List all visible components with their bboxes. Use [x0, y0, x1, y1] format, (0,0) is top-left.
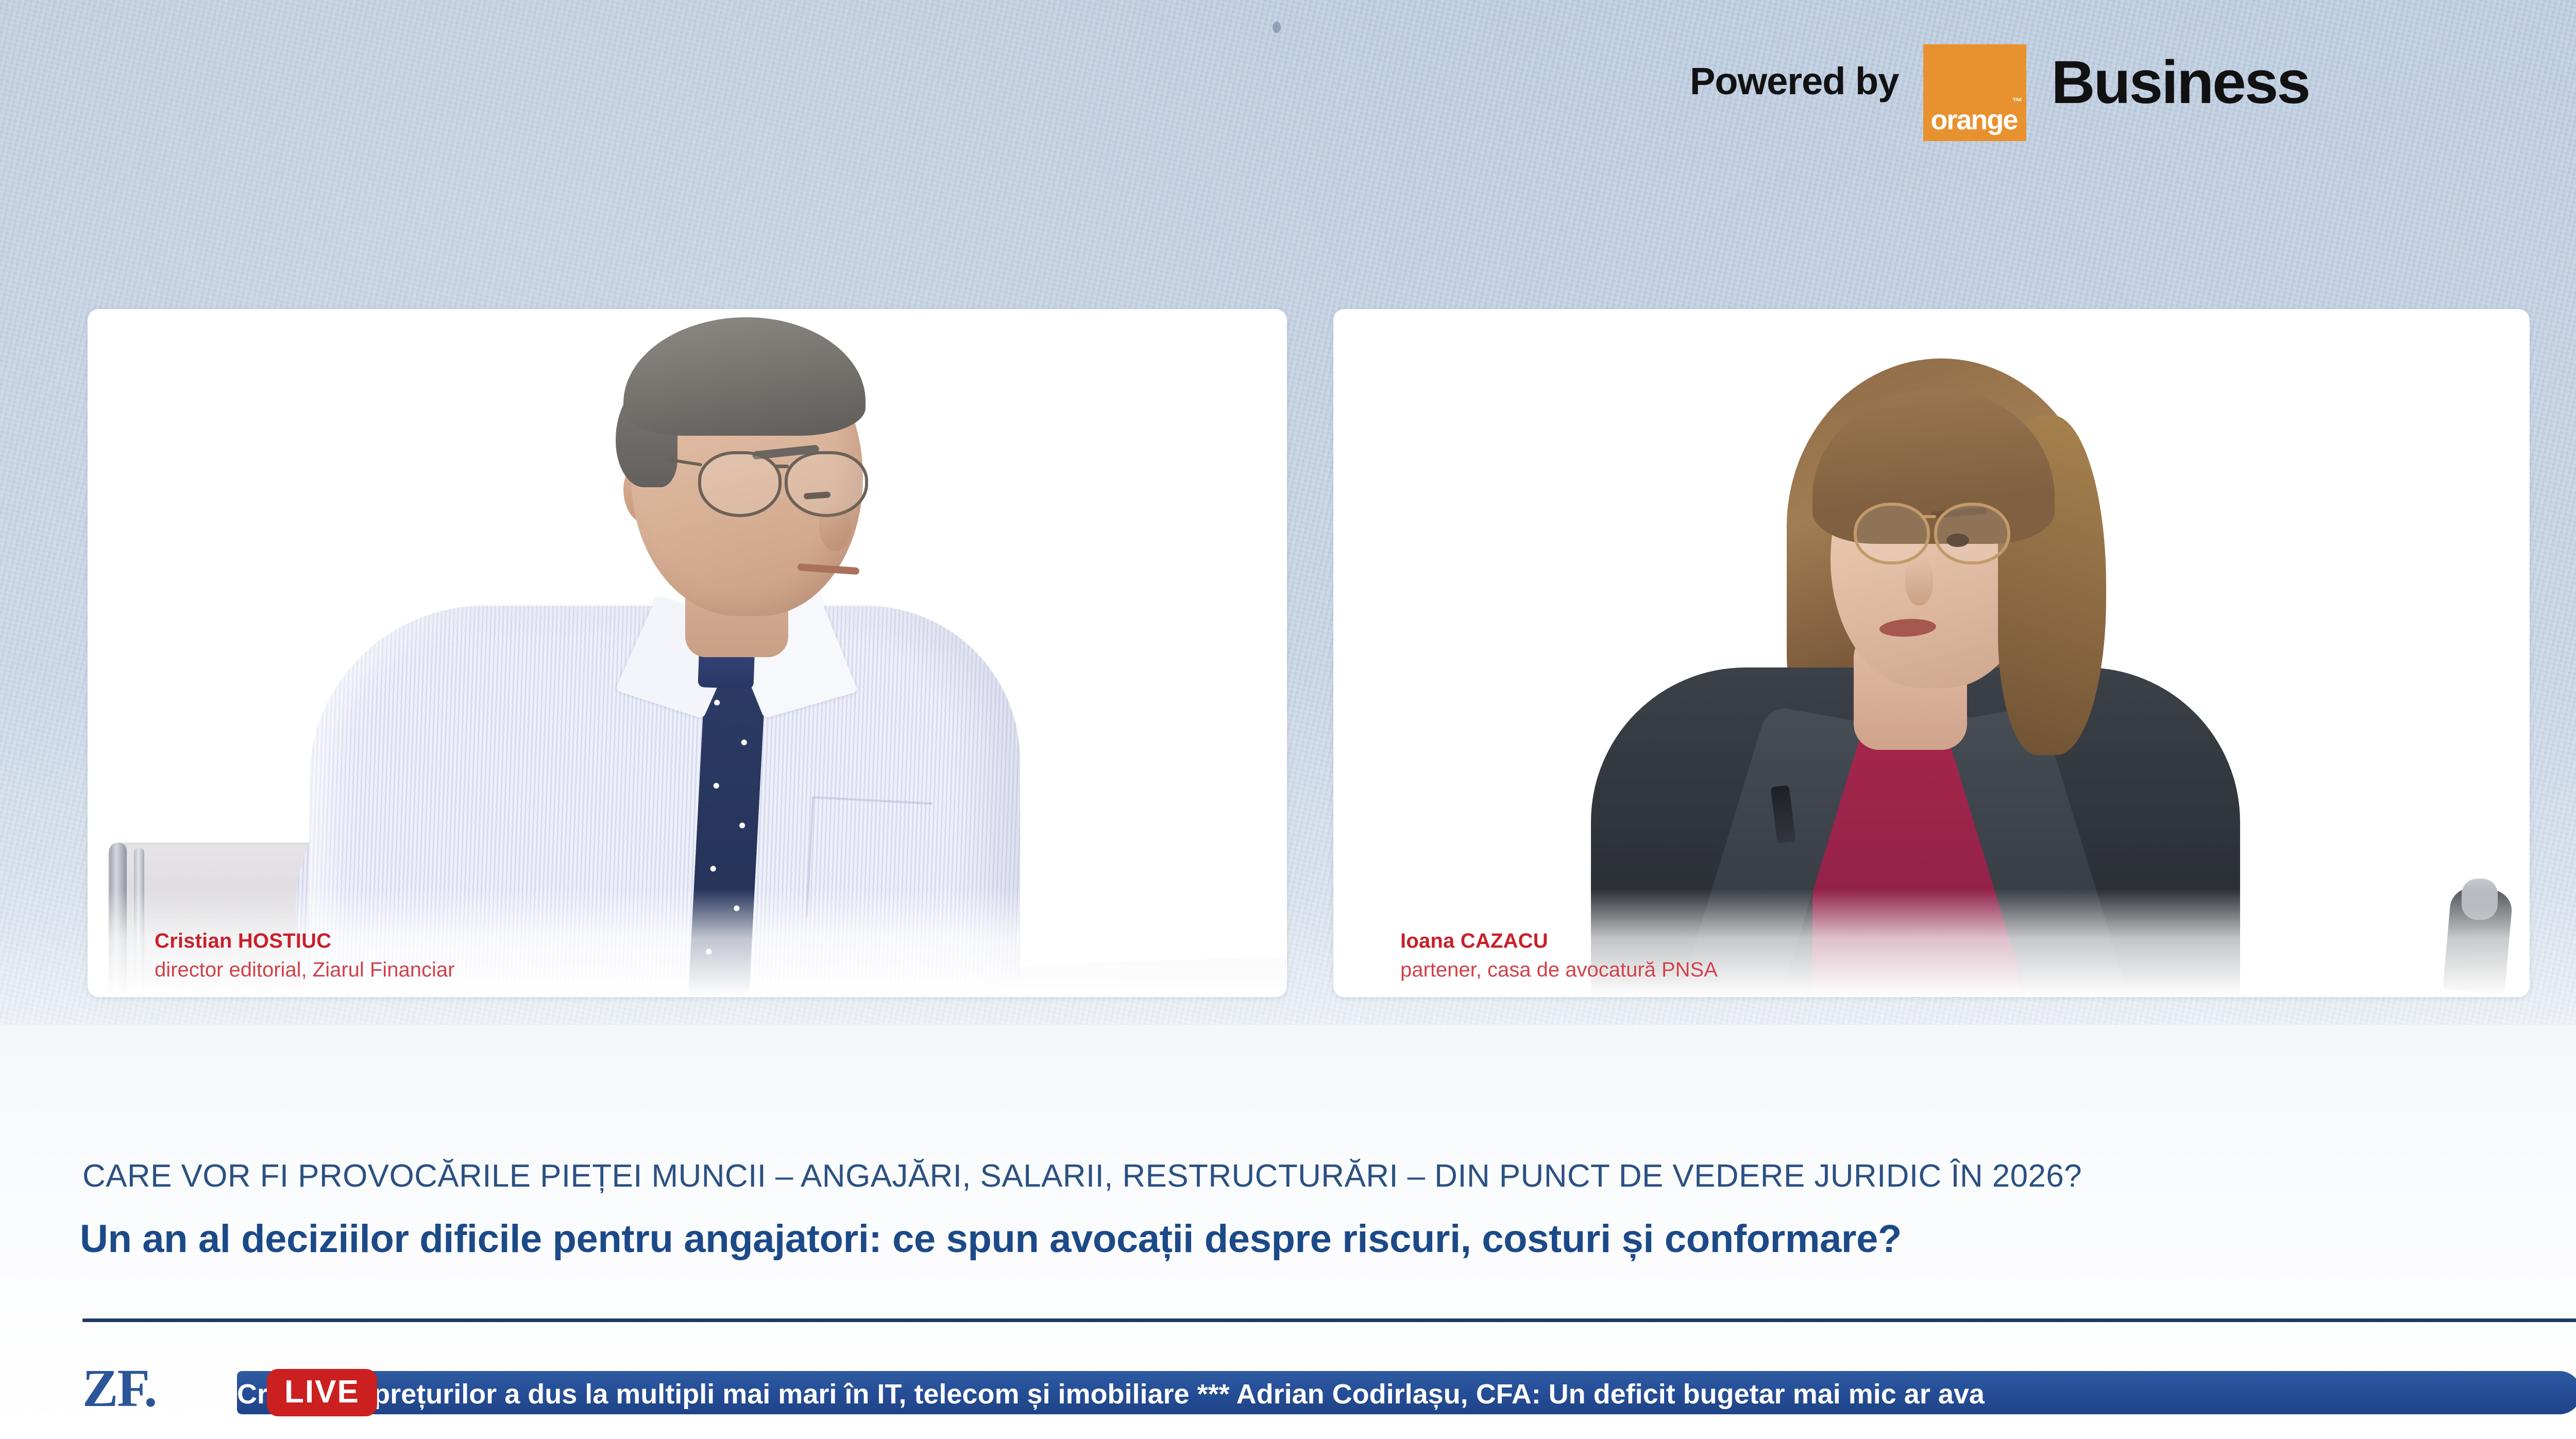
- lens-left: [698, 451, 782, 517]
- orange-logo-icon: orange ™: [1923, 44, 2026, 141]
- sponsor-header: Powered by orange ™ Business: [1690, 41, 2309, 144]
- speaker-name: Cristian HOSTIUC: [155, 929, 454, 953]
- sponsor-name: Business: [2051, 52, 2309, 113]
- chair-post: [109, 843, 127, 997]
- page-title: Un an al deciziilor dificile pentru anga…: [80, 1217, 1902, 1261]
- nose: [1905, 559, 1933, 606]
- glasses-bridge: [774, 465, 789, 468]
- zf-logo: ZF.: [82, 1362, 156, 1415]
- video-feed-right: [1333, 309, 2530, 997]
- table-edge: [1019, 956, 1287, 997]
- lens-right: [1934, 503, 2010, 564]
- divider: [82, 1318, 2576, 1322]
- speaker-label-left: Cristian HOSTIUC director editorial, Zia…: [155, 929, 454, 982]
- eyeglasses-icon: [1854, 503, 2008, 564]
- orange-logo-wordmark: orange: [1930, 106, 2017, 134]
- speaker-role: director editorial, Ziarul Financiar: [155, 958, 454, 982]
- nose: [819, 504, 851, 551]
- video-feed-left: [88, 309, 1287, 997]
- speaker-name: Ioana CAZACU: [1400, 929, 1718, 953]
- background-speck: [1273, 22, 1281, 33]
- shirt-pocket: [806, 796, 933, 923]
- speaker-role: partener, casa de avocatură PNSA: [1400, 958, 1718, 982]
- video-panel-left[interactable]: Cristian HOSTIUC director editorial, Zia…: [88, 309, 1287, 997]
- ticker-text: Creșterea prețurilor a dus la multipli m…: [237, 1378, 1985, 1410]
- live-badge: LIVE: [267, 1369, 377, 1416]
- glasses-bridge: [1923, 515, 1936, 518]
- speaker-label-right: Ioana CAZACU partener, casa de avocatură…: [1400, 929, 1718, 982]
- hair: [623, 317, 866, 436]
- powered-by-label: Powered by: [1690, 62, 1899, 100]
- chair-metal-detail: [2462, 879, 2498, 920]
- news-ticker[interactable]: Creșterea prețurilor a dus la multipli m…: [82, 1358, 2576, 1423]
- video-panel-right[interactable]: Ioana CAZACU partener, casa de avocatură…: [1333, 309, 2530, 997]
- trademark-icon: ™: [2012, 97, 2022, 107]
- lens-left: [1854, 503, 1930, 564]
- chair-post-secondary: [134, 848, 144, 997]
- broadcast-stage: Powered by orange ™ Business: [0, 0, 2576, 1439]
- kicker-text: CARE VOR FI PROVOCĂRILE PIEȚEI MUNCII – …: [82, 1158, 2082, 1194]
